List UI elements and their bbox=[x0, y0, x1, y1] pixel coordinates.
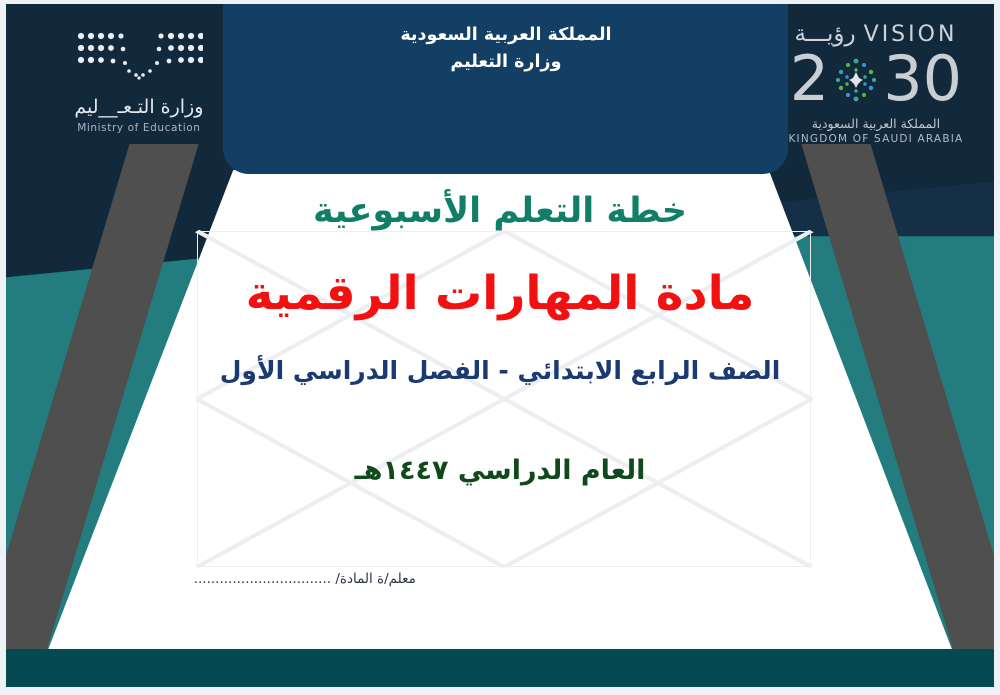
grade-and-term: الصف الرابع الابتدائي - الفصل الدراسي ال… bbox=[6, 356, 994, 385]
document-body: خطة التعلم الأسبوعية مادة المهارات الرقم… bbox=[6, 4, 994, 687]
plan-title: خطة التعلم الأسبوعية bbox=[6, 191, 994, 231]
teacher-name-field[interactable]: معلم/ة المادة/ .........................… bbox=[194, 571, 416, 587]
slide-frame: وزارة التـعـ__ليم Ministry of Education … bbox=[0, 0, 1000, 695]
subject-title: مادة المهارات الرقمية bbox=[6, 266, 994, 321]
slide-canvas: وزارة التـعـ__ليم Ministry of Education … bbox=[6, 4, 994, 687]
academic-year: العام الدراسي ١٤٤٧هـ bbox=[6, 455, 994, 486]
